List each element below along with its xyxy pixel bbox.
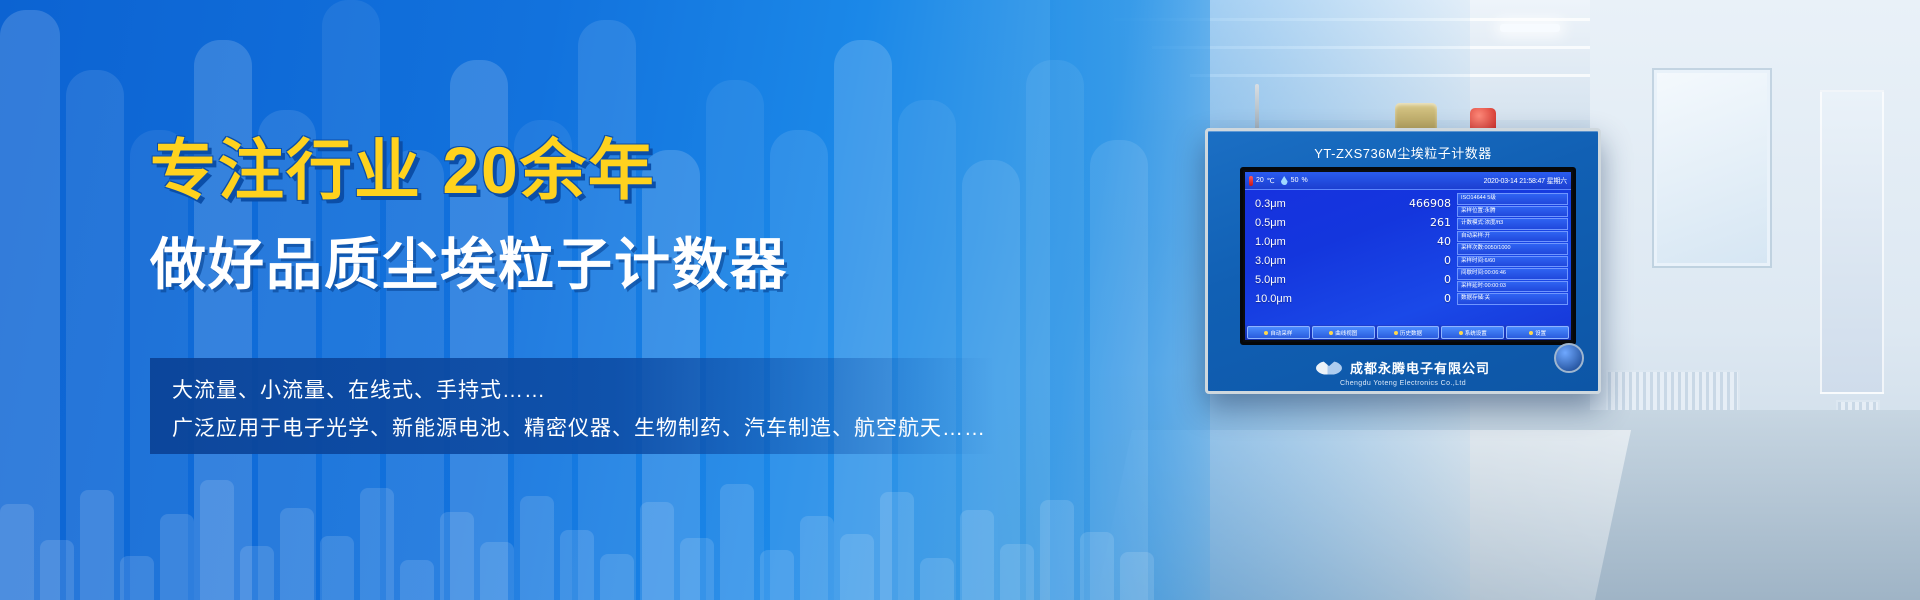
hero-banner: 专注行业 20余年 做好品质尘埃粒子计数器 大流量、小流量、在线式、手持式…… … [0,0,1920,600]
particle-counter-device: YT-ZXS736M尘埃粒子计数器 20 ℃ 50 % 2020-03-14 2… [1205,128,1601,394]
device-brand: 成都永腾电子有限公司 [1208,358,1598,377]
info-item: 采样次数:0050/1000 [1457,243,1568,255]
temperature-unit: ℃ [1267,177,1275,185]
settings-label: 设置 [1535,329,1546,337]
table-row: 0.3μm 466908 [1255,195,1451,214]
particle-count: 261 [1430,214,1451,233]
status-dot-icon [1264,331,1268,335]
curve-view-button[interactable]: 曲线视图 [1312,326,1375,339]
temperature-value: 20 [1256,177,1264,184]
particle-count: 0 [1444,252,1451,271]
power-button[interactable] [1554,343,1584,373]
system-settings-button[interactable]: 系统设置 [1441,326,1504,339]
humidity-unit: % [1301,177,1307,184]
thermometer-icon [1249,176,1253,186]
auto-sample-label: 自动采样 [1270,329,1292,337]
humidity-value: 50 [1291,177,1299,184]
particle-count: 0 [1444,271,1451,290]
temperature-indicator: 20 ℃ [1249,176,1275,186]
particle-count: 0 [1444,290,1451,309]
yoteng-logo-icon [1316,361,1342,375]
status-dot-icon [1459,331,1463,335]
particle-size: 0.3μm [1255,195,1286,214]
device-model-label: YT-ZXS736M尘埃粒子计数器 [1208,143,1598,162]
history-data-label: 历史数据 [1400,329,1422,337]
info-item: 采样时间:6/60 [1457,256,1568,268]
brand-name-en: Chengdu Yoteng Electronics Co.,Ltd [1208,380,1598,387]
decorative-bottom-bars [0,460,1920,600]
status-dot-icon [1329,331,1333,335]
subtitle-line-1: 大流量、小流量、在线式、手持式…… [172,374,546,404]
settings-info-panel: ISO14644 5级 采样位置:永腾 计数模式:浓度/ft3 自动采样:开 采… [1457,190,1571,340]
particle-count: 466908 [1409,195,1451,214]
info-item: 数据存储:关 [1457,293,1568,305]
particle-size: 3.0μm [1255,252,1286,271]
info-item: 计数模式:浓度/ft3 [1457,218,1568,230]
table-row: 0.5μm 261 [1255,214,1451,233]
device-lcd[interactable]: 20 ℃ 50 % 2020-03-14 21:58:47 星期六 0.3μm [1245,172,1571,340]
info-item: ISO14644 5级 [1457,193,1568,205]
lcd-button-bar: 自动采样 曲线视图 历史数据 系统设置 [1245,325,1571,340]
curve-view-label: 曲线视图 [1335,329,1357,337]
status-dot-icon [1394,331,1398,335]
history-data-button[interactable]: 历史数据 [1377,326,1440,339]
info-item: 采样延时:00:00:03 [1457,281,1568,293]
info-item: 采样位置:永腾 [1457,206,1568,218]
table-row: 5.0μm 0 [1255,271,1451,290]
table-row: 10.0μm 0 [1255,290,1451,309]
ceiling-lamp [1500,24,1560,32]
particle-count: 40 [1437,233,1451,252]
info-item: 自动采样:开 [1457,231,1568,243]
system-settings-label: 系统设置 [1465,329,1487,337]
particle-size: 5.0μm [1255,271,1286,290]
datetime-display: 2020-03-14 21:58:47 星期六 [1484,176,1567,186]
brand-name-cn: 成都永腾电子有限公司 [1350,358,1490,377]
table-row: 3.0μm 0 [1255,252,1451,271]
particle-readings-table: 0.3μm 466908 0.5μm 261 1.0μm 40 3.0μm [1245,190,1457,340]
lcd-status-bar: 20 ℃ 50 % 2020-03-14 21:58:47 星期六 [1245,172,1571,190]
device-antenna [1255,84,1259,132]
corridor-door [1820,90,1884,394]
auto-sample-button[interactable]: 自动采样 [1247,326,1310,339]
settings-button[interactable]: 设置 [1506,326,1569,339]
humidity-indicator: 50 % [1281,176,1308,185]
particle-size: 1.0μm [1255,233,1286,252]
status-dot-icon [1529,331,1533,335]
lcd-body: 0.3μm 466908 0.5μm 261 1.0μm 40 3.0μm [1245,190,1571,340]
headline-secondary: 做好品质尘埃粒子计数器 [150,220,1050,301]
subtitle-line-2: 广泛应用于电子光学、新能源电池、精密仪器、生物制药、汽车制造、航空航天…… [172,412,986,442]
headline-primary: 专注行业 20余年 [150,135,1050,206]
device-screen-bezel: 20 ℃ 50 % 2020-03-14 21:58:47 星期六 0.3μm [1240,167,1576,345]
headline-block: 专注行业 20余年 做好品质尘埃粒子计数器 [150,135,1050,301]
info-item: 间歇时间:00:06:46 [1457,268,1568,280]
corridor-window [1654,70,1770,266]
table-row: 1.0μm 40 [1255,233,1451,252]
subtitle-band: 大流量、小流量、在线式、手持式…… 广泛应用于电子光学、新能源电池、精密仪器、生… [150,358,995,454]
particle-size: 10.0μm [1255,290,1292,309]
water-drop-icon [1281,176,1288,185]
particle-size: 0.5μm [1255,214,1286,233]
